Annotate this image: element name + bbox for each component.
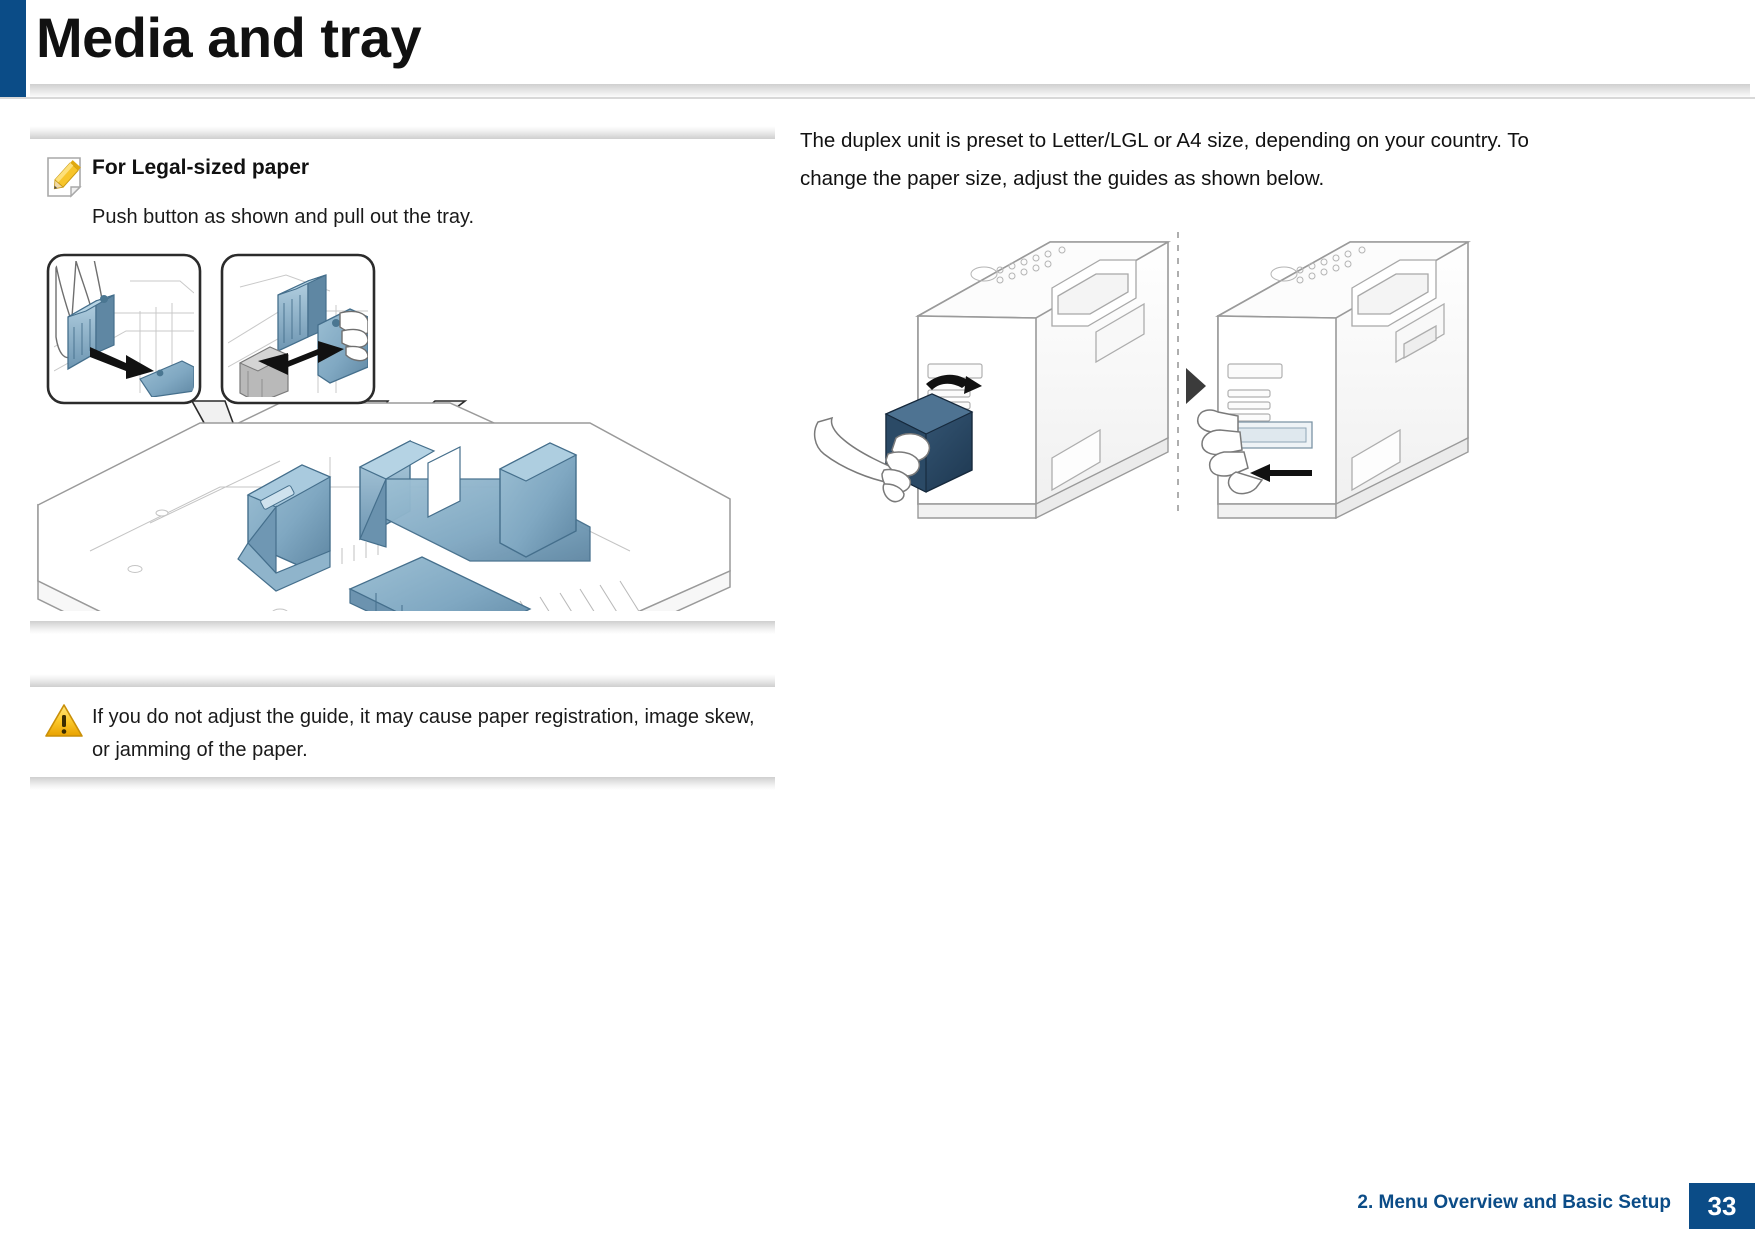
duplex-unit-insert-step xyxy=(815,242,1168,518)
manual-page: Media and tray xyxy=(0,0,1755,1240)
note-box: For Legal-sized paper Push button as sho… xyxy=(30,126,775,634)
warning-triangle-icon xyxy=(44,703,84,739)
note-icon-cell xyxy=(30,153,92,199)
duplex-paragraph: The duplex unit is preset to Letter/LGL … xyxy=(800,122,1550,198)
header-shadow xyxy=(30,84,1750,98)
push-button-detail xyxy=(48,255,200,403)
legal-paper-tray-illustration xyxy=(30,251,775,611)
duplex-guide-plate xyxy=(1230,422,1312,448)
caution-text-cell: If you do not adjust the guide, it may c… xyxy=(92,701,775,767)
note-body-text: Push button as shown and pull out the tr… xyxy=(92,201,765,233)
header-divider xyxy=(0,97,1755,99)
caution-icon-cell xyxy=(30,701,92,739)
note-text-cell: For Legal-sized paper Push button as sho… xyxy=(92,153,775,233)
right-column: The duplex unit is preset to Letter/LGL … xyxy=(800,122,1550,556)
footer-page-number: 33 xyxy=(1689,1183,1755,1229)
duplex-unit-guide-illustration xyxy=(800,226,1550,556)
duplex-guide-pull-step xyxy=(1198,242,1468,518)
footer-section-label: 2. Menu Overview and Basic Setup xyxy=(1357,1192,1671,1214)
pull-guide-detail xyxy=(222,255,374,403)
caution-box-body: If you do not adjust the guide, it may c… xyxy=(30,687,775,777)
page-header: Media and tray xyxy=(0,0,1755,100)
caution-box-bottom-border xyxy=(30,777,775,790)
note-box-top-border xyxy=(30,126,775,139)
left-column: For Legal-sized paper Push button as sho… xyxy=(30,126,775,790)
note-box-bottom-border xyxy=(30,621,775,634)
header-accent-bar xyxy=(0,0,26,97)
note-box-body: For Legal-sized paper Push button as sho… xyxy=(30,139,775,621)
caution-box: If you do not adjust the guide, it may c… xyxy=(30,674,775,790)
page-title: Media and tray xyxy=(36,4,421,72)
caution-body-text: If you do not adjust the guide, it may c… xyxy=(92,701,765,767)
step-arrow-right xyxy=(1186,368,1206,404)
note-heading: For Legal-sized paper xyxy=(92,153,765,183)
page-footer: 2. Menu Overview and Basic Setup 33 xyxy=(0,1174,1755,1240)
note-pencil-icon xyxy=(44,155,86,199)
caution-box-top-border xyxy=(30,674,775,687)
